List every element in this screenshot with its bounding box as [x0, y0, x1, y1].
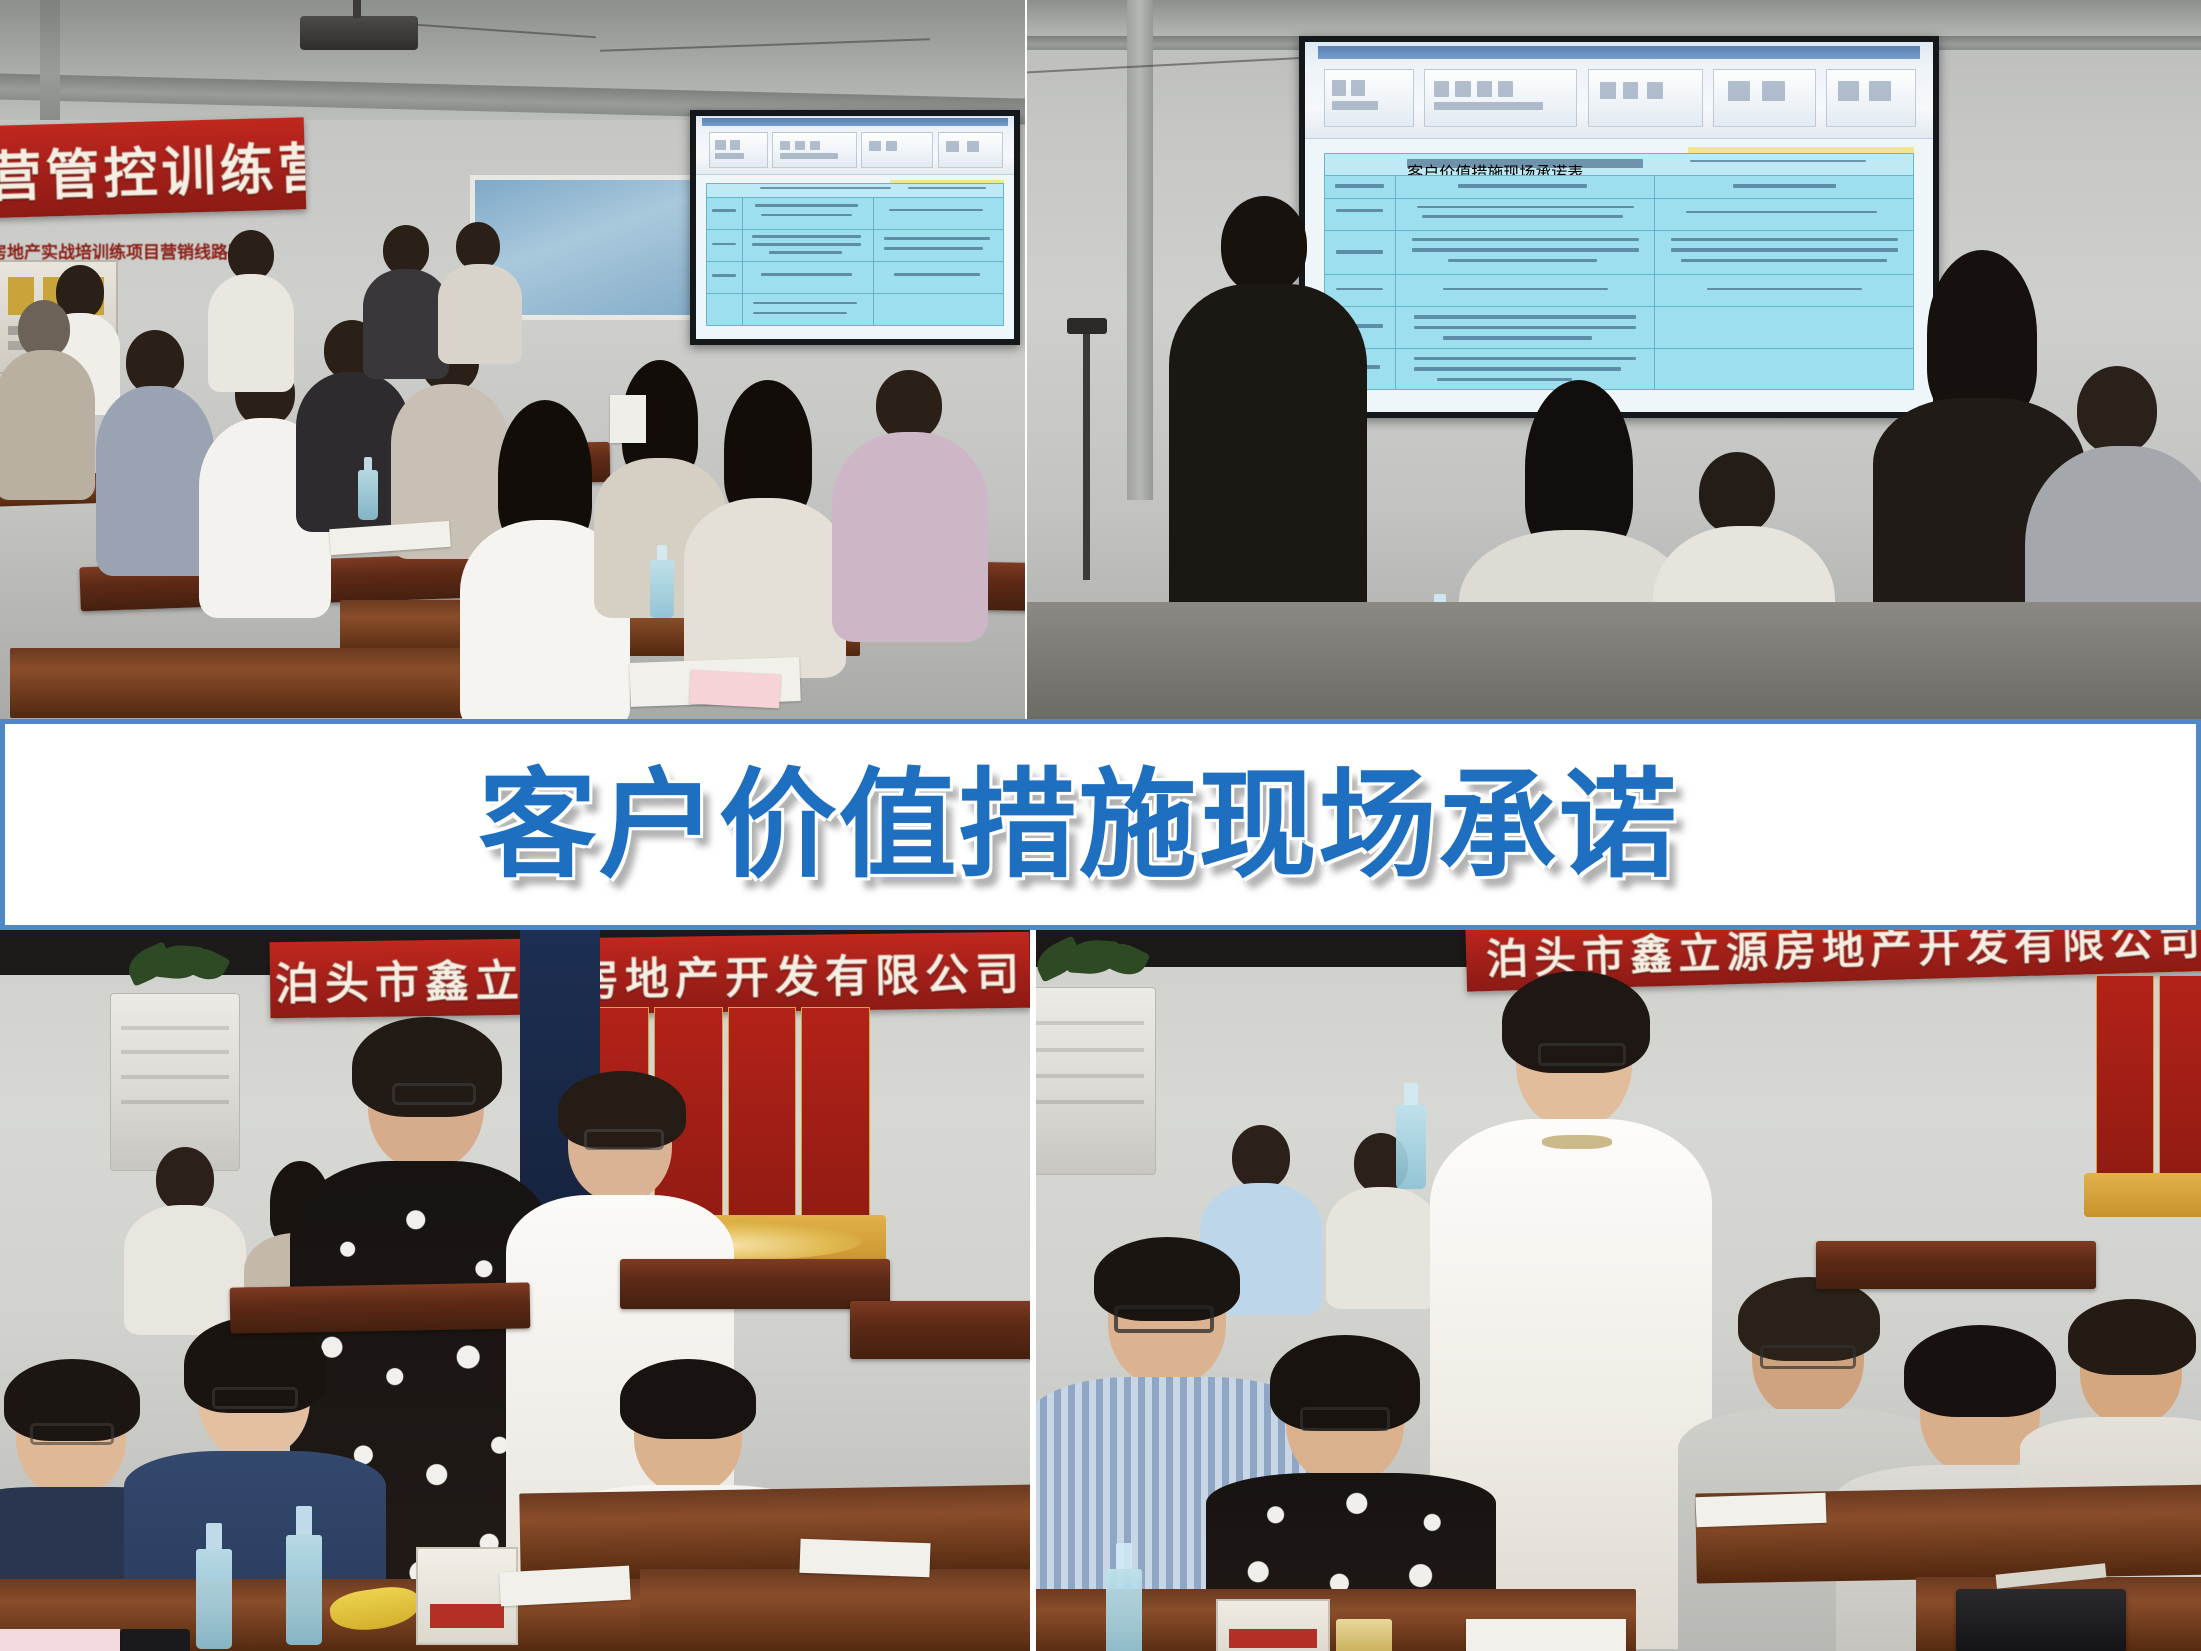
- screen-display: 客户价值措施现场承诺表: [1305, 42, 1933, 412]
- cell-text: [712, 274, 735, 277]
- wall-panel: [728, 1007, 797, 1217]
- ribbon-icon: [730, 140, 740, 150]
- ribbon-group: [709, 132, 768, 168]
- attendee: [840, 370, 980, 640]
- eyeglasses-icon: [212, 1387, 298, 1409]
- cell-text: [1417, 206, 1634, 209]
- cell-text: [1671, 248, 1898, 251]
- attendee-body: [1326, 1187, 1438, 1309]
- attendee-body: [96, 386, 214, 576]
- ac-vent: [121, 1075, 229, 1079]
- ribbon-group: [1324, 69, 1414, 127]
- cell-text: [1414, 367, 1620, 371]
- table-row: [1325, 176, 1913, 199]
- table-cell: [1655, 231, 1913, 274]
- projector-icon: [300, 16, 418, 50]
- ribbon-icon: [886, 141, 897, 151]
- ribbon-icon: [1838, 81, 1859, 101]
- eyeglasses-icon: [1300, 1407, 1390, 1431]
- attendee-body: [0, 350, 95, 500]
- table-cell: [707, 294, 743, 325]
- ribbon-icon: [967, 141, 980, 152]
- bench-seat: [230, 1282, 531, 1333]
- table-cell: [1655, 199, 1913, 230]
- attendee-head: [456, 222, 500, 270]
- table-cell: [1655, 307, 1913, 347]
- cell-text: [1414, 326, 1636, 330]
- paper-sheet: [689, 670, 781, 709]
- photo-top-left: 运营管控训练营 房地产实战培训练项目营销线路图: [0, 0, 1025, 722]
- table-cell: [1655, 176, 1913, 198]
- ribbon-group: [1588, 69, 1703, 127]
- ceiling-beam-vertical: [40, 0, 60, 120]
- table-cell: [707, 262, 743, 293]
- classroom-scene-top-left: 运营管控训练营 房地产实战培训练项目营销线路图: [0, 0, 1025, 722]
- attendee-body: [438, 264, 522, 364]
- table-row: [1325, 275, 1913, 307]
- photo-row-top: 运营管控训练营 房地产实战培训练项目营销线路图: [0, 0, 2201, 722]
- photo-top-right: 客户价值措施现场承诺表: [1027, 0, 2201, 722]
- eyeglasses-icon: [392, 1083, 476, 1105]
- attendee: [440, 222, 518, 362]
- ribbon-icon: [1623, 82, 1639, 99]
- spreadsheet-table: [706, 183, 1005, 326]
- attendee: [365, 225, 445, 375]
- ac-vent: [1036, 1021, 1144, 1025]
- spreadsheet-ribbon: [696, 116, 1014, 175]
- paper-sheet: [799, 1539, 930, 1578]
- ribbon-tabbar: [702, 118, 1007, 126]
- water-bottle-icon: [650, 560, 674, 618]
- cell-text: [884, 247, 983, 250]
- eyeglasses-icon: [584, 1129, 664, 1150]
- ac-vent: [121, 1050, 229, 1054]
- table-cell: [743, 230, 874, 261]
- paper-sheet: [1466, 1619, 1626, 1651]
- projection-screen-icon: 客户价值措施现场承诺表: [1299, 36, 1939, 418]
- ribbon-icon: [1332, 80, 1346, 96]
- ribbon-icon: [715, 153, 744, 159]
- attendee: [0, 300, 95, 500]
- cell-text: [753, 312, 846, 315]
- ribbon-icon: [780, 153, 838, 158]
- ribbon-icon: [1498, 81, 1513, 97]
- cell-text: [1671, 238, 1898, 241]
- table-cell: [707, 230, 743, 261]
- cell-text: [889, 209, 982, 212]
- cell-text: [1448, 259, 1598, 262]
- ribbon-icon: [810, 141, 820, 150]
- cell-text: [760, 187, 891, 188]
- screen-display: [696, 116, 1014, 339]
- ribbon-group: [1424, 69, 1577, 127]
- attendee: [210, 230, 290, 390]
- classroom-scene-top-right: 客户价值措施现场承诺表: [1027, 0, 2201, 722]
- ribbon-icon: [1455, 81, 1470, 97]
- tissue-box: [610, 395, 646, 443]
- mic-stand: [1083, 330, 1090, 580]
- attendee-body: [124, 1205, 246, 1335]
- cell-text: [1690, 160, 1867, 162]
- wall-panel: [801, 1007, 870, 1217]
- wall-panel: [2159, 975, 2201, 1175]
- ribbon-icon: [869, 141, 880, 151]
- attendee-body: [684, 498, 846, 678]
- banner-text: 泊头市鑫立源房地产开发有限公司: [275, 938, 1026, 1012]
- red-banner-icon: 泊头市鑫立源房地产开发有限公司: [270, 932, 1030, 1019]
- water-bottle-icon: [358, 470, 378, 520]
- cell-text: [712, 243, 735, 246]
- tissue-box-label: [1229, 1629, 1317, 1648]
- desk: [10, 648, 530, 718]
- projector-mount: [353, 0, 361, 18]
- table-row: [707, 230, 1004, 262]
- table-cell: [1396, 231, 1655, 274]
- water-bottle-icon: [1396, 1105, 1426, 1189]
- attendee-head: [1232, 1125, 1290, 1189]
- cell-text: [1335, 184, 1384, 189]
- attendee-hair: [620, 1359, 756, 1439]
- cell-text: [1412, 238, 1639, 241]
- cell-text: [1458, 184, 1587, 189]
- tissue-box: [1216, 1599, 1330, 1651]
- ribbon-icon: [1600, 82, 1616, 99]
- cell-text: [1681, 259, 1887, 262]
- water-bottle-icon: [196, 1549, 232, 1649]
- ribbon-tabbar: [1318, 46, 1921, 59]
- cell-text: [908, 187, 985, 188]
- table-cell: [1396, 176, 1655, 198]
- ribbon-icon: [780, 141, 790, 150]
- spreadsheet-table: 客户价值措施现场承诺表: [1324, 153, 1914, 390]
- attendee-hair: [2068, 1299, 2196, 1375]
- cell-text: [752, 235, 861, 238]
- table-cell: [1655, 349, 1913, 389]
- table-cell: [743, 198, 874, 229]
- classroom-scene-bottom-left: 泊头市鑫立源房地产开发有限公司: [0, 929, 1030, 1651]
- table-title: 客户价值措施现场承诺表: [1407, 159, 1642, 167]
- ribbon-icon: [1728, 81, 1750, 101]
- cell-text: [752, 243, 861, 246]
- cell-text: [894, 273, 980, 276]
- table-row: [707, 262, 1004, 294]
- cell-text: [761, 273, 852, 276]
- glass-cup: [1336, 1619, 1392, 1651]
- cell-text: [712, 209, 735, 212]
- notebook: [1956, 1589, 2126, 1651]
- attendee-body: [363, 269, 449, 379]
- mobile-phone: [120, 1629, 190, 1651]
- cell-text: [761, 214, 852, 217]
- table-cell: [1396, 307, 1655, 347]
- cell-text: [1443, 288, 1608, 291]
- table-cell: [707, 184, 1004, 197]
- ribbon-icon: [795, 141, 805, 150]
- red-banner-icon: 运营管控训练营: [0, 117, 306, 219]
- table-row: [1325, 199, 1913, 231]
- attendee-body: [832, 432, 988, 642]
- ribbon-icon: [1647, 82, 1663, 99]
- ribbon-icon: [1869, 81, 1890, 101]
- ac-vent: [1036, 1074, 1144, 1078]
- table-cell: [743, 294, 874, 325]
- table-cell: [874, 294, 1004, 325]
- paper-sheet: [499, 1566, 631, 1607]
- gold-base: [2084, 1173, 2201, 1217]
- attendee-hair: [1927, 250, 2037, 420]
- photo-bottom-left: 泊头市鑫立源房地产开发有限公司: [0, 929, 1030, 1651]
- attendee-head: [383, 225, 429, 275]
- cell-text: [1412, 248, 1639, 251]
- bench-seat: [850, 1301, 1030, 1359]
- air-conditioner-icon: [1036, 987, 1156, 1175]
- air-conditioner-icon: [110, 993, 240, 1171]
- table-row: [707, 294, 1004, 325]
- spreadsheet-ribbon: [1305, 42, 1933, 139]
- ribbon-group: [1826, 69, 1916, 127]
- table-cell: [1396, 275, 1655, 306]
- table-cell: [874, 230, 1004, 261]
- potted-plant-icon: [120, 929, 230, 1001]
- ribbon-icon: [1434, 81, 1449, 97]
- water-bottle-icon: [1106, 1569, 1142, 1651]
- table-cell: [874, 262, 1004, 293]
- eyeglasses-icon: [1114, 1305, 1214, 1333]
- table-row: 客户价值措施现场承诺表: [1325, 154, 1913, 176]
- floor: [1027, 602, 2201, 722]
- cell-text: [1733, 184, 1836, 189]
- ac-vent: [121, 1026, 229, 1030]
- ribbon-icon: [715, 140, 725, 150]
- ribbon-icon: [1332, 101, 1378, 110]
- cell-text: [769, 251, 842, 254]
- photo-row-bottom: 泊头市鑫立源房地产开发有限公司: [0, 929, 2201, 1651]
- ribbon-icon: [1351, 80, 1365, 96]
- photo-bottom-right: 泊头市鑫立源房地产开发有限公司: [1036, 929, 2201, 1651]
- cell-text: [1686, 211, 1877, 214]
- attendee: [130, 1147, 240, 1327]
- table-row: [1325, 307, 1913, 348]
- attendee-head: [156, 1147, 214, 1211]
- table-cell: [1396, 199, 1655, 230]
- cell-text: [884, 237, 990, 240]
- table-cell: [1655, 275, 1913, 306]
- title-band: 客户价值措施现场承诺: [0, 719, 2201, 930]
- eyeglasses-icon: [1760, 1345, 1856, 1369]
- ribbon-icon: [1762, 81, 1784, 101]
- potted-plant-icon: [1036, 929, 1150, 995]
- ac-vent: [1036, 1048, 1144, 1052]
- cell-text: [1414, 315, 1636, 319]
- attendee-head: [1699, 452, 1775, 534]
- classroom-scene-bottom-right: 泊头市鑫立源房地产开发有限公司: [1036, 929, 2201, 1651]
- presenter-head: [1221, 196, 1307, 294]
- attendee-head: [876, 370, 942, 440]
- cell-text: [753, 302, 857, 305]
- tissue-box-label: [430, 1604, 505, 1628]
- attendee-head: [2077, 366, 2157, 454]
- paper-sheet: [1696, 1493, 1827, 1528]
- attendee-head: [228, 230, 274, 280]
- table-cell: [1325, 176, 1396, 198]
- slide-canvas: 运营管控训练营 房地产实战培训练项目营销线路图: [0, 0, 2201, 1651]
- table-cell: [874, 198, 1004, 229]
- table-row: [707, 198, 1004, 230]
- ribbon-group: [1713, 69, 1815, 127]
- ribbon-icon: [1477, 81, 1492, 97]
- table-cell: 客户价值措施现场承诺表: [1325, 154, 1913, 175]
- wall-pillar: [1127, 0, 1153, 500]
- cell-text: [1707, 288, 1862, 291]
- mic-stand-head: [1067, 318, 1107, 334]
- ac-vent: [1036, 1100, 1144, 1104]
- desk: [640, 1569, 1030, 1651]
- ribbon-group: [772, 132, 857, 168]
- cell-text: [1414, 357, 1636, 361]
- attendee: [100, 330, 210, 570]
- attendee: [690, 380, 840, 670]
- table-row: [707, 184, 1004, 198]
- page-title: 客户价值措施现场承诺: [478, 766, 1678, 884]
- attendee-head: [126, 330, 184, 394]
- wall-panel: [2096, 975, 2154, 1175]
- eyeglasses-icon: [30, 1423, 114, 1445]
- projection-screen-icon: [690, 110, 1020, 345]
- ribbon-icon: [946, 141, 959, 152]
- banner-text: 运营管控训练营: [0, 123, 306, 213]
- ribbon-group: [938, 132, 1004, 168]
- table-row: [1325, 231, 1913, 275]
- ribbon-group: [861, 132, 933, 168]
- bench-seat: [1816, 1241, 2096, 1289]
- ac-vent: [121, 1100, 229, 1104]
- water-bottle-icon: [286, 1535, 322, 1645]
- cell-text: [1443, 336, 1593, 340]
- attendee-body: [208, 274, 294, 392]
- paper-sheet: [0, 1629, 120, 1651]
- table-cell: [707, 198, 743, 229]
- necklace-icon: [1542, 1135, 1612, 1149]
- eyeglasses-icon: [1538, 1043, 1626, 1066]
- cell-text: [1422, 215, 1623, 218]
- table-cell: [743, 262, 874, 293]
- cell-text: [755, 204, 859, 207]
- ribbon-icon: [1434, 102, 1543, 110]
- attendee-hair: [1904, 1325, 2056, 1417]
- wall-panel-strip: [2096, 975, 2201, 1175]
